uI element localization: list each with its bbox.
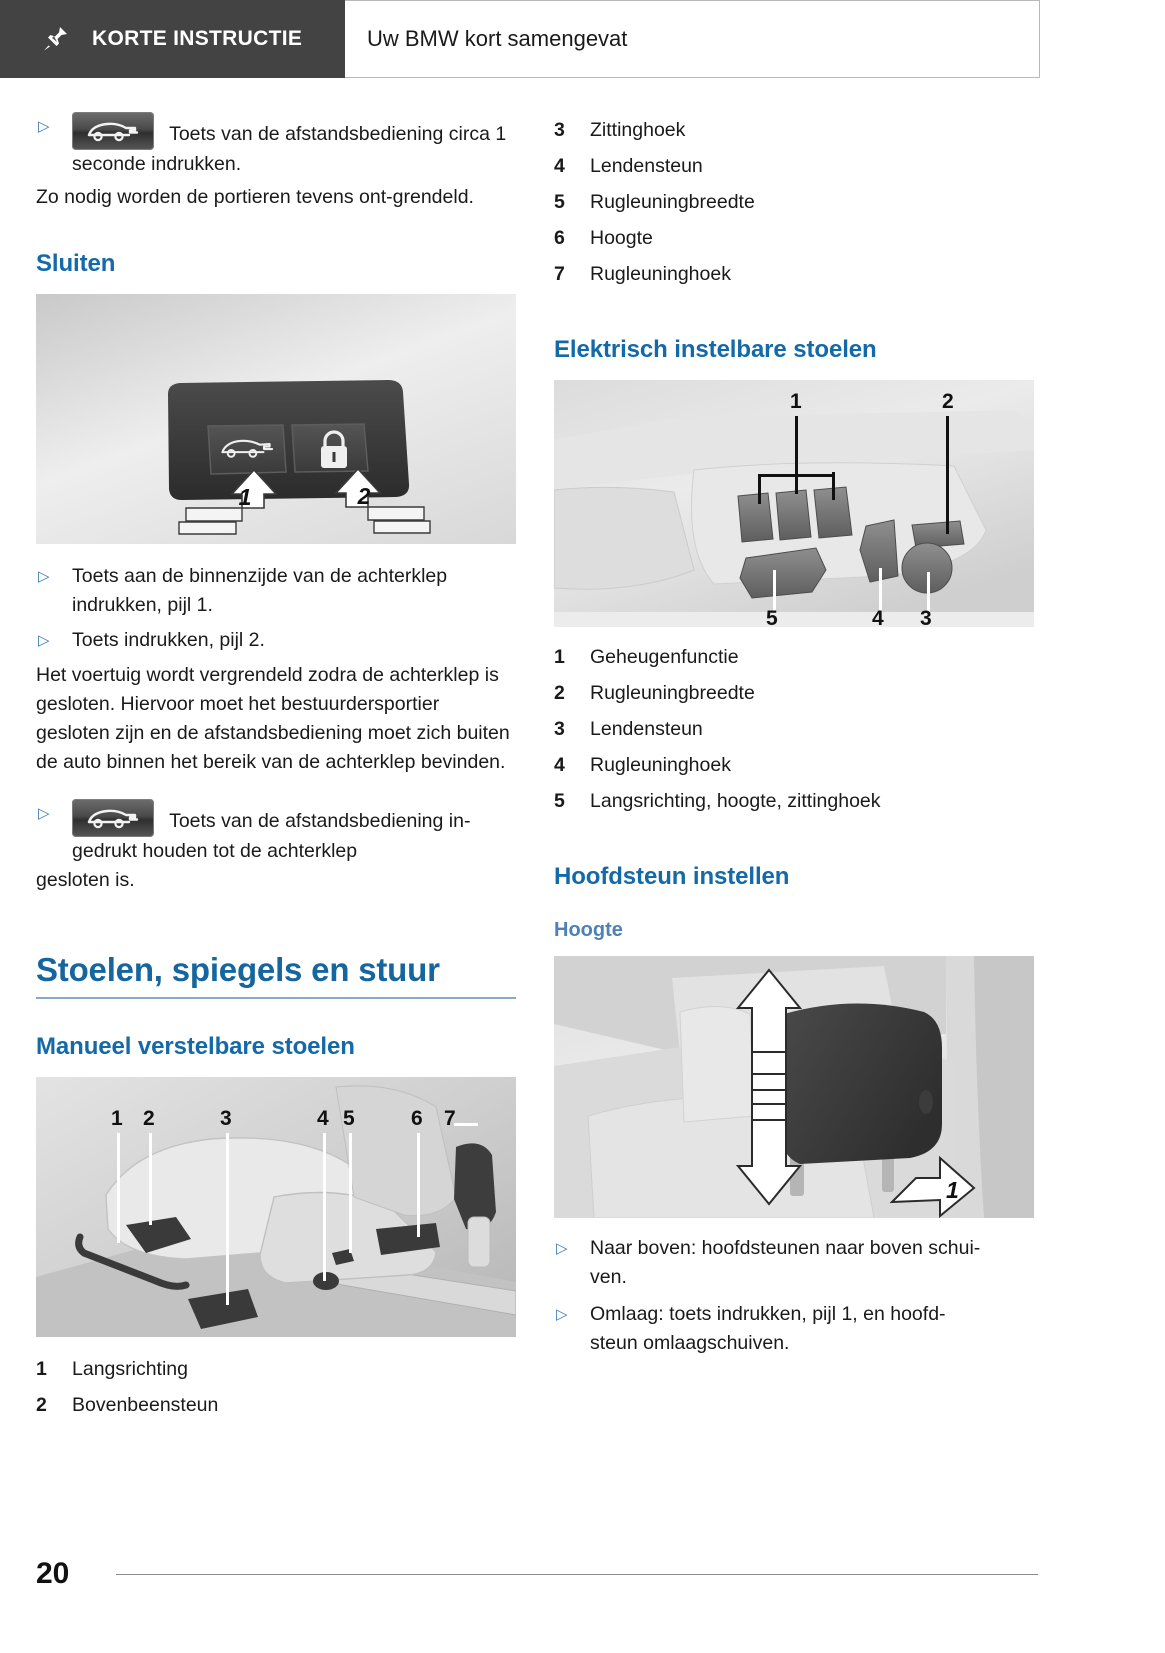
- legend-label: Bovenbeensteun: [72, 1387, 218, 1423]
- close-bullet-2: ▷ Toets indrukken, pijl 2.: [36, 626, 516, 655]
- svg-text:4: 4: [317, 1107, 329, 1130]
- legend-number: 4: [554, 148, 590, 184]
- unlock-bullet: ▷ Toets van de afstandsbediening circa 1…: [36, 112, 516, 179]
- electric-seats-heading: Elektrisch instelbare stoelen: [554, 336, 1034, 364]
- legend-number: 3: [554, 112, 590, 148]
- bullet-marker: ▷: [36, 562, 72, 591]
- height-heading: Hoogte: [554, 919, 1034, 942]
- legend-item: 4 Lendensteun: [554, 148, 1034, 184]
- bullet-marker: ▷: [36, 112, 72, 141]
- bullet-marker: ▷: [554, 1300, 590, 1329]
- right-column: 3 Zittinghoek 4 Lendensteun 5 Rugleuning…: [554, 112, 1034, 1358]
- svg-text:4: 4: [872, 607, 884, 627]
- legend-label: Lendensteun: [590, 148, 703, 184]
- legend-label: Rugleuningbreedte: [590, 675, 755, 711]
- close-note: Het voertuig wordt vergrendeld zodra de …: [36, 661, 516, 777]
- legend-number: 1: [554, 639, 590, 675]
- page-title: Uw BMW kort samengevat: [367, 26, 627, 52]
- svg-text:1: 1: [239, 484, 252, 510]
- hold-bullet-body: Toets van de afstandsbediening in-gedruk…: [72, 799, 516, 866]
- manual-seat-legend-cont: 3 Zittinghoek 4 Lendensteun 5 Rugleuning…: [554, 112, 1034, 292]
- seats-section-title: Stoelen, spiegels en stuur: [36, 951, 516, 999]
- legend-label: Langsrichting: [72, 1351, 188, 1387]
- bullet-marker: ▷: [554, 1234, 590, 1263]
- page-number: 20: [36, 1557, 116, 1591]
- manual-seat-figure: 1 2 3 4 5 6 7: [36, 1077, 516, 1337]
- headrest-bullet-1-line2: ven.: [590, 1266, 627, 1288]
- legend-label: Zittinghoek: [590, 112, 685, 148]
- page-title-box: Uw BMW kort samengevat: [345, 0, 1040, 78]
- tailgate-buttons-figure: 1 2: [36, 294, 516, 544]
- svg-text:7: 7: [444, 1107, 456, 1130]
- svg-text:5: 5: [343, 1107, 355, 1130]
- remote-car-key-icon: [72, 799, 154, 837]
- legend-item: 6 Hoogte: [554, 220, 1034, 256]
- electric-seat-legend: 1 Geheugenfunctie 2 Rugleuningbreedte 3 …: [554, 639, 1034, 819]
- legend-number: 2: [36, 1387, 72, 1423]
- legend-number: 5: [554, 184, 590, 220]
- legend-number: 2: [554, 675, 590, 711]
- unlock-bullet-body: Toets van de afstandsbediening circa 1 s…: [72, 112, 516, 179]
- electric-seat-figure: 1 2 5 4 3 5 4: [554, 380, 1034, 627]
- close-bullet-1-text: Toets aan de binnenzijde van de achterkl…: [72, 562, 516, 620]
- legend-item: 3 Lendensteun: [554, 711, 1034, 747]
- legend-item: 7 Rugleuninghoek: [554, 256, 1034, 292]
- page-header: KORTE INSTRUCTIE Uw BMW kort samengevat: [0, 0, 1040, 78]
- svg-text:2: 2: [357, 483, 371, 509]
- left-column: ▷ Toets van de afstandsbediening circa 1…: [36, 112, 516, 1423]
- headrest-bullet-1: ▷ Naar boven: hoofdsteunen naar boven sc…: [554, 1234, 1034, 1292]
- legend-item: 5 Rugleuningbreedte: [554, 184, 1034, 220]
- footer-rule: [116, 1574, 1038, 1575]
- legend-item: 2 Rugleuningbreedte: [554, 675, 1034, 711]
- svg-text:2: 2: [143, 1107, 155, 1130]
- close-bullet-1: ▷ Toets aan de binnenzijde van de achter…: [36, 562, 516, 620]
- legend-number: 7: [554, 256, 590, 292]
- bullet-marker: ▷: [36, 799, 72, 828]
- legend-label: Rugleuningbreedte: [590, 184, 755, 220]
- legend-item: 4 Rugleuninghoek: [554, 747, 1034, 783]
- legend-item: 1 Langsrichting: [36, 1351, 516, 1387]
- hold-bullet-tail: gesloten is.: [36, 866, 516, 895]
- legend-number: 1: [36, 1351, 72, 1387]
- headrest-heading: Hoofdsteun instellen: [554, 863, 1034, 891]
- svg-text:6: 6: [411, 1107, 423, 1130]
- legend-item: 2 Bovenbeensteun: [36, 1387, 516, 1423]
- headrest-bullet-1-line1: Naar boven: hoofdsteunen naar boven schu…: [590, 1237, 980, 1259]
- close-bullet-2-text: Toets indrukken, pijl 2.: [72, 626, 516, 655]
- legend-label: Langsrichting, hoogte, zittinghoek: [590, 783, 881, 819]
- legend-label: Rugleuninghoek: [590, 256, 731, 292]
- headrest-bullet-2-line2: steun omlaagschuiven.: [590, 1332, 789, 1354]
- headrest-bullet-2-line1: Omlaag: toets indrukken, pijl 1, en hoof…: [590, 1303, 946, 1325]
- svg-text:1: 1: [790, 390, 802, 413]
- unlock-note: Zo nodig worden de portieren tevens ont-…: [36, 183, 516, 212]
- closing-heading: Sluiten: [36, 250, 516, 278]
- manual-seat-legend: 1 Langsrichting 2 Bovenbeensteun: [36, 1351, 516, 1423]
- page-footer: 20: [36, 1557, 1038, 1591]
- pin-icon: [40, 24, 70, 54]
- hold-bullet: ▷ Toets van de afstandsbediening in-gedr…: [36, 799, 516, 866]
- legend-number: 5: [554, 783, 590, 819]
- legend-number: 6: [554, 220, 590, 256]
- legend-item: 1 Geheugenfunctie: [554, 639, 1034, 675]
- svg-text:2: 2: [942, 390, 954, 413]
- legend-number: 3: [554, 711, 590, 747]
- headrest-adjust-figure: 1: [554, 956, 1034, 1218]
- manual-seats-heading: Manueel verstelbare stoelen: [36, 1033, 516, 1061]
- legend-label: Lendensteun: [590, 711, 703, 747]
- bullet-marker: ▷: [36, 626, 72, 655]
- legend-label: Hoogte: [590, 220, 653, 256]
- svg-text:1: 1: [111, 1107, 123, 1130]
- legend-label: Rugleuninghoek: [590, 747, 731, 783]
- legend-label: Geheugenfunctie: [590, 639, 739, 675]
- legend-item: 5 Langsrichting, hoogte, zittinghoek: [554, 783, 1034, 819]
- chapter-tab: KORTE INSTRUCTIE: [0, 0, 345, 78]
- remote-car-key-icon: [72, 112, 154, 150]
- svg-text:1: 1: [946, 1177, 959, 1203]
- svg-text:5: 5: [766, 607, 778, 627]
- headrest-bullet-1-text: Naar boven: hoofdsteunen naar boven schu…: [590, 1234, 1034, 1292]
- svg-text:3: 3: [920, 607, 932, 627]
- legend-item: 3 Zittinghoek: [554, 112, 1034, 148]
- chapter-tab-label: KORTE INSTRUCTIE: [92, 27, 302, 51]
- headrest-bullet-2: ▷ Omlaag: toets indrukken, pijl 1, en ho…: [554, 1300, 1034, 1358]
- headrest-bullet-2-text: Omlaag: toets indrukken, pijl 1, en hoof…: [590, 1300, 1034, 1358]
- legend-number: 4: [554, 747, 590, 783]
- svg-text:3: 3: [220, 1107, 232, 1130]
